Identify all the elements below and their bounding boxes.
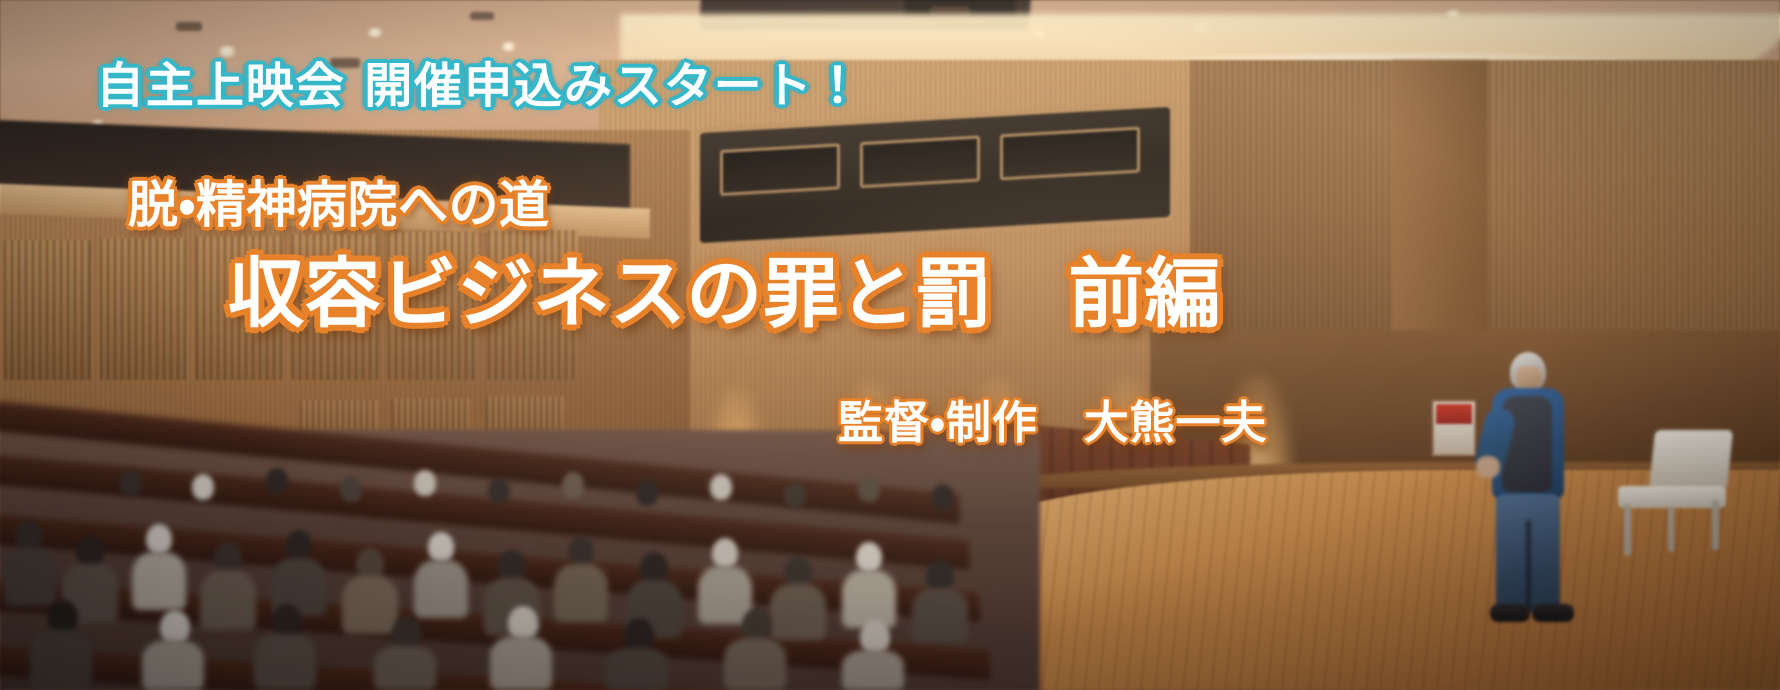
director-credit-text: 監督・制作 大熊一夫 — [838, 400, 1267, 445]
kicker-text: 自主上映会 開催申込みスタート！ — [96, 62, 863, 110]
series-title-text: 脱・精神病院への道 — [128, 180, 550, 230]
text-overlay: 自主上映会 開催申込みスタート！ 脱・精神病院への道 収容ビジネスの罪と罰 前編… — [0, 0, 1780, 690]
main-title-text: 収容ビジネスの罪と罰 前編 — [228, 256, 1221, 332]
screening-promo-banner: 自主上映会 開催申込みスタート！ 脱・精神病院への道 収容ビジネスの罪と罰 前編… — [0, 0, 1780, 690]
